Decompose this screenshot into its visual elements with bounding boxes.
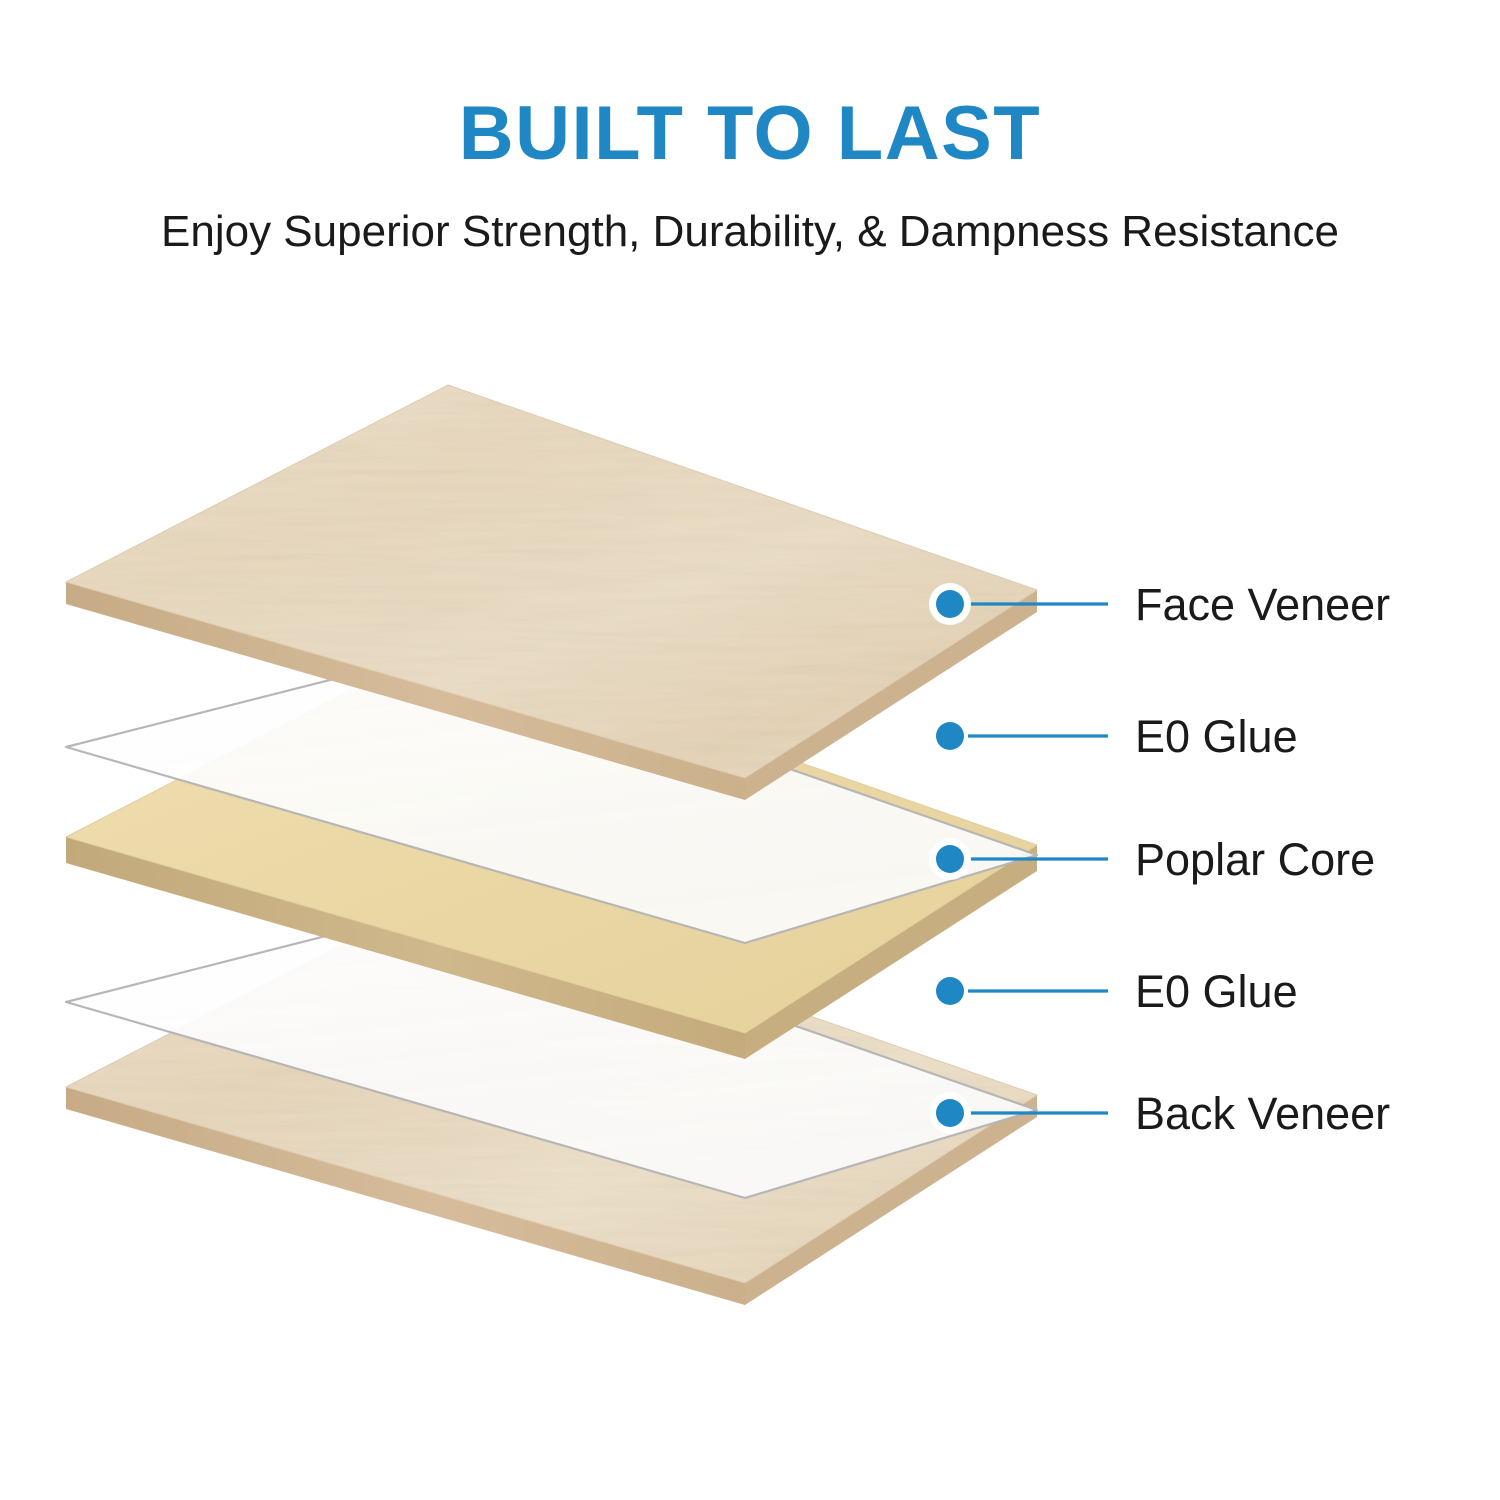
marker-dot-icon [936, 845, 964, 873]
marker-face-veneer[interactable] [929, 583, 971, 625]
infographic-page: BUILT TO LAST Enjoy Superior Strength, D… [0, 0, 1500, 1500]
marker-dot-icon [936, 977, 964, 1005]
marker-glue-lower[interactable] [936, 977, 964, 1005]
label-back-veneer: Back Veneer [1135, 1091, 1390, 1136]
label-poplar-core: Poplar Core [1135, 837, 1375, 882]
marker-dot-icon [936, 590, 964, 618]
label-glue-upper: E0 Glue [1135, 714, 1298, 759]
leader-lines [968, 604, 1108, 1113]
label-face-veneer: Face Veneer [1135, 582, 1390, 627]
label-glue-lower: E0 Glue [1135, 969, 1298, 1014]
marker-back-veneer[interactable] [929, 1092, 971, 1134]
marker-dot-icon [936, 1099, 964, 1127]
marker-poplar-core[interactable] [929, 838, 971, 880]
marker-dot-icon [936, 722, 964, 750]
marker-glue-upper[interactable] [936, 722, 964, 750]
